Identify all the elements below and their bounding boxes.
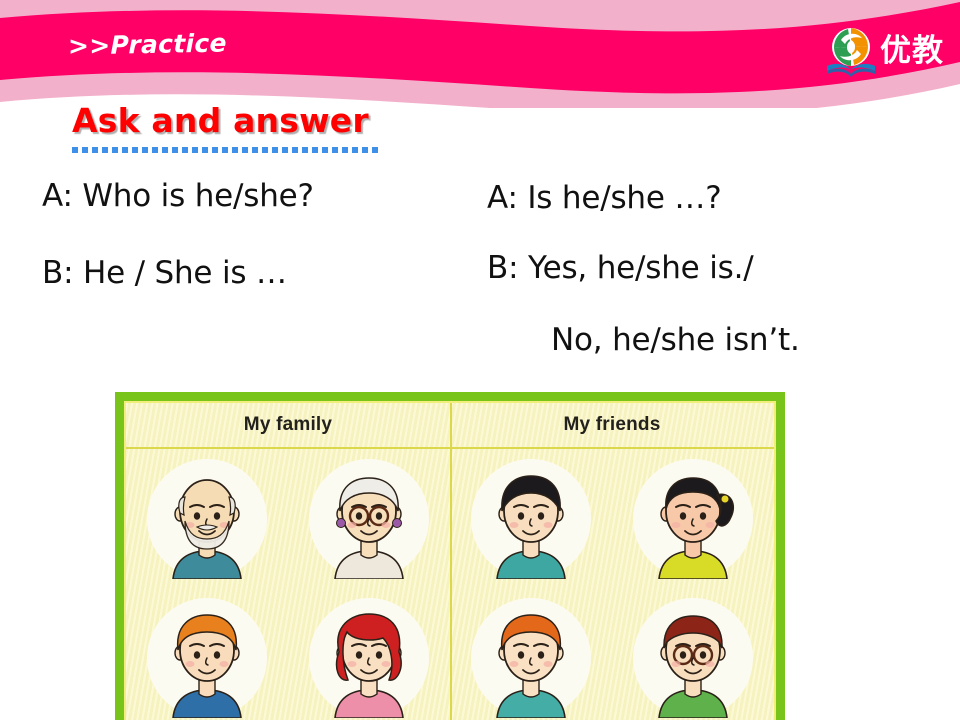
slide-canvas: >>Practice 优教 Ask and answer A: Who is h… bbox=[0, 0, 960, 720]
column-divider bbox=[450, 403, 452, 720]
family-face-grid bbox=[126, 449, 450, 720]
logo-emblem-icon bbox=[824, 26, 878, 78]
column-header-my-family: My family bbox=[126, 403, 450, 447]
face-cell-grandmother[interactable] bbox=[309, 459, 429, 579]
dialogue-right-line-1: A: Is he/she …? bbox=[487, 180, 721, 216]
face-cell-boy-glasses[interactable] bbox=[633, 598, 753, 718]
picture-table-paper: My family My friends bbox=[124, 401, 776, 720]
dialogue-right-line-2: B: Yes, he/she is./ bbox=[487, 250, 753, 286]
family-column bbox=[126, 449, 450, 720]
face-illustration-girl-ponytail bbox=[633, 459, 753, 579]
dialogue-right-line-3: No, he/she isn’t. bbox=[551, 322, 800, 358]
face-illustration-father bbox=[147, 598, 267, 718]
face-cell-boy-black-hair[interactable] bbox=[471, 459, 591, 579]
face-illustration-boy-black-hair bbox=[471, 459, 591, 579]
banner-title: >>Practice bbox=[68, 28, 227, 60]
logo-wordmark: 优教 bbox=[880, 29, 944, 73]
face-cell-father[interactable] bbox=[147, 598, 267, 718]
slide-banner: >>Practice 优教 bbox=[0, 0, 960, 108]
heading-dotted-underline bbox=[72, 147, 382, 153]
picture-table: My family My friends bbox=[115, 392, 785, 720]
dialogue-left-line-2: B: He / She is … bbox=[42, 255, 287, 291]
section-heading: Ask and answer bbox=[72, 101, 369, 140]
friends-face-grid bbox=[450, 449, 774, 720]
face-illustration-boy-orange-hair bbox=[471, 598, 591, 718]
face-illustration-grandfather bbox=[147, 459, 267, 579]
face-cell-boy-orange-hair[interactable] bbox=[471, 598, 591, 718]
column-header-my-friends: My friends bbox=[450, 403, 774, 447]
face-illustration-boy-glasses bbox=[633, 598, 753, 718]
face-illustration-mother bbox=[309, 598, 429, 718]
face-cell-mother[interactable] bbox=[309, 598, 429, 718]
brand-logo: 优教 bbox=[824, 26, 952, 78]
face-cell-girl-ponytail[interactable] bbox=[633, 459, 753, 579]
dialogue-left-line-1: A: Who is he/she? bbox=[42, 178, 314, 214]
face-illustration-grandmother bbox=[309, 459, 429, 579]
friends-column bbox=[450, 449, 774, 720]
face-cell-grandfather[interactable] bbox=[147, 459, 267, 579]
